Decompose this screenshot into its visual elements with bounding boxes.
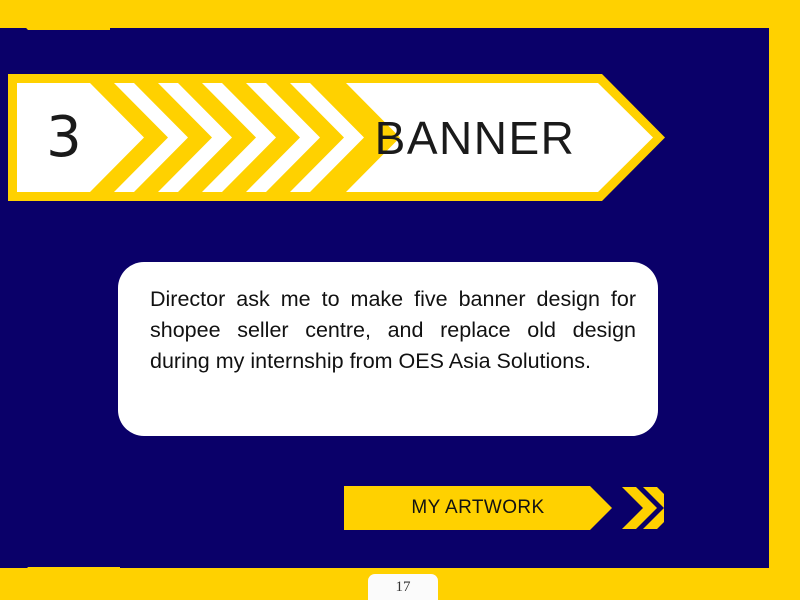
section-number: 3	[28, 74, 100, 201]
top-left-yellow-notch	[0, 0, 110, 30]
description-text: Director ask me to make five banner desi…	[150, 284, 636, 377]
page-title: BANNER	[330, 74, 620, 201]
description-card: Director ask me to make five banner desi…	[118, 262, 658, 436]
page-number-text: 17	[396, 579, 411, 596]
artwork-banner-label[interactable]: MY ARTWORK	[344, 486, 612, 530]
slide-canvas: 3 BANNER Director ask me to make five ba…	[0, 0, 800, 600]
page-number-badge: 17	[368, 574, 438, 600]
bottom-left-yellow-notch	[0, 567, 120, 600]
artwork-chevron-group	[622, 487, 664, 529]
